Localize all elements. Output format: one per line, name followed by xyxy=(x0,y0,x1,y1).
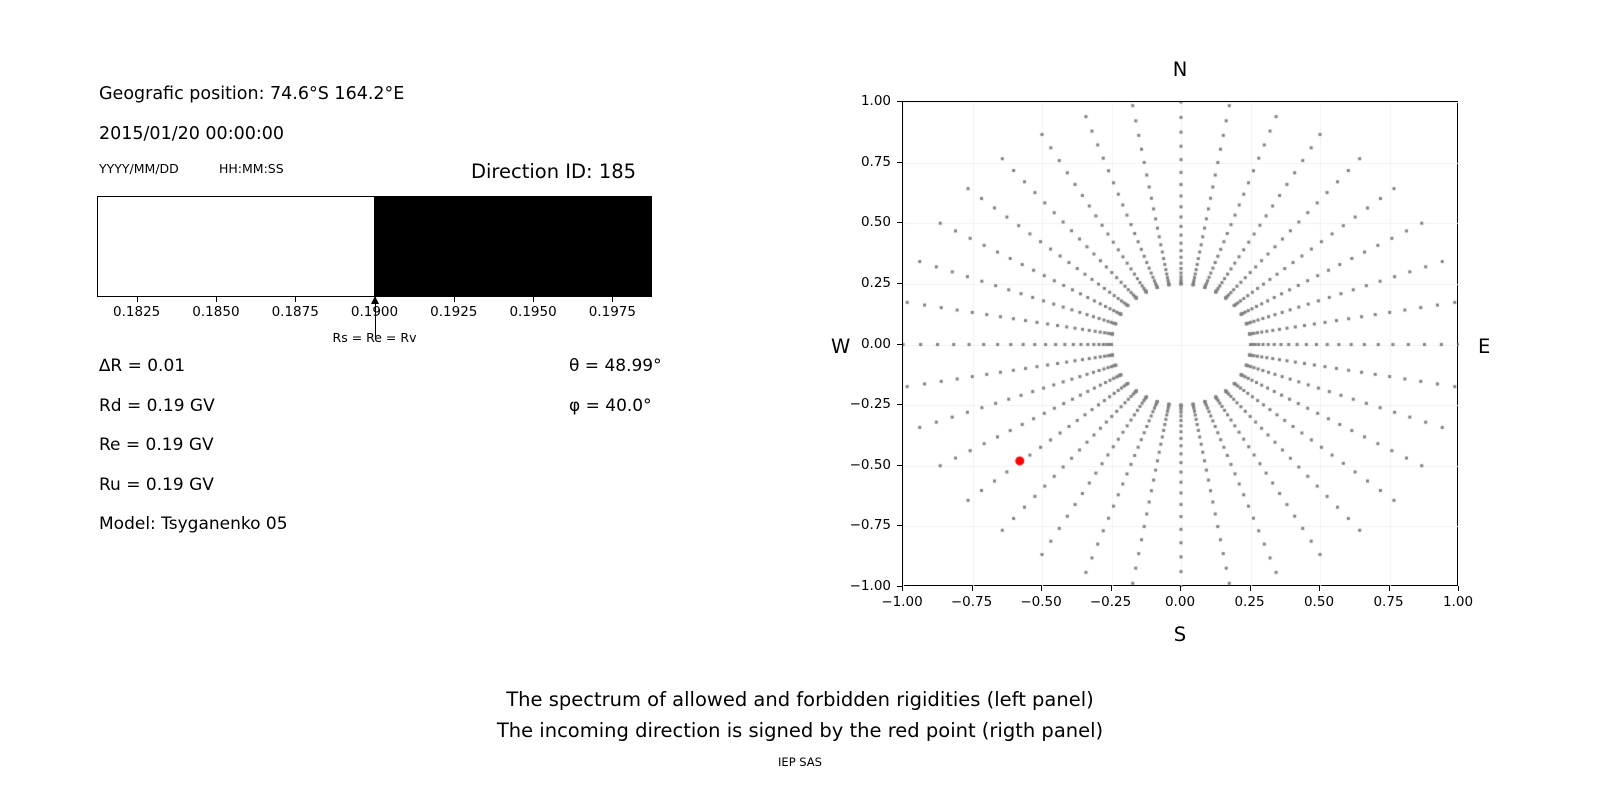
figure-root: Geografic position: 74.6°S 164.2°E 2015/… xyxy=(0,0,1600,800)
sky-x-tick-label: −0.75 xyxy=(951,594,992,610)
sky-y-tickmark xyxy=(897,283,902,284)
sky-y-tickmark xyxy=(897,465,902,466)
sky-x-tick-label: −0.50 xyxy=(1020,594,1061,610)
parameter-row: θ = 48.99° xyxy=(569,356,662,376)
parameter-row: Re = 0.19 GV xyxy=(99,435,214,455)
spectrum-tick-label: 0.1850 xyxy=(192,304,239,320)
sky-x-tickmark xyxy=(1041,586,1042,591)
spectrum-tick-label: 0.1975 xyxy=(589,304,636,320)
sky-y-tickmark xyxy=(897,222,902,223)
sky-x-tickmark xyxy=(902,586,903,591)
spectrum-tick-label: 0.1950 xyxy=(509,304,556,320)
time-format-hint: HH:MM:SS xyxy=(219,161,284,176)
sky-x-tick-label: 0.00 xyxy=(1165,594,1195,610)
sky-y-tickmark xyxy=(897,101,902,102)
parameter-row: Ru = 0.19 GV xyxy=(99,475,214,495)
caption-line-1: The spectrum of allowed and forbidden ri… xyxy=(0,684,1600,715)
compass-label-east: E xyxy=(1478,335,1490,358)
spectrum-tickmark xyxy=(454,297,455,302)
date-format-hint: YYYY/MM/DD xyxy=(99,161,179,176)
geographic-position-label: Geografic position: 74.6°S 164.2°E xyxy=(99,84,404,104)
footer-credit: IEP SAS xyxy=(0,755,1600,769)
rigidity-spectrum-bar xyxy=(97,196,652,297)
sky-y-tick-label: −0.50 xyxy=(831,457,891,473)
spectrum-forbidden-region xyxy=(374,197,652,296)
spectrum-allowed-region xyxy=(98,197,376,296)
sky-y-tick-label: 0.50 xyxy=(831,214,891,230)
spectrum-tickmark xyxy=(533,297,534,302)
sky-x-tickmark xyxy=(1319,586,1320,591)
sky-scatter-canvas xyxy=(903,102,1459,587)
spectrum-tick-label: 0.1875 xyxy=(272,304,319,320)
sky-y-tick-label: −1.00 xyxy=(831,578,891,594)
spectrum-tickmark xyxy=(137,297,138,302)
spectrum-tick-label: 0.1825 xyxy=(113,304,160,320)
sky-x-tick-label: 1.00 xyxy=(1443,594,1473,610)
sky-direction-plot xyxy=(902,101,1458,586)
direction-id-label: Direction ID: 185 xyxy=(471,160,636,183)
caption-line-2: The incoming direction is signed by the … xyxy=(0,715,1600,746)
sky-y-tick-label: 0.00 xyxy=(831,336,891,352)
sky-x-tickmark xyxy=(1111,586,1112,591)
left-panel: Geografic position: 74.6°S 164.2°E 2015/… xyxy=(0,0,800,680)
sky-x-tickmark xyxy=(1180,586,1181,591)
sky-y-tickmark xyxy=(897,525,902,526)
right-panel: N S W E −1.00−0.75−0.50−0.250.000.250.50… xyxy=(800,0,1600,680)
parameter-row: ∆R = 0.01 xyxy=(99,356,185,376)
sky-y-tickmark xyxy=(897,344,902,345)
sky-y-tick-label: −0.75 xyxy=(831,517,891,533)
sky-x-tick-label: −1.00 xyxy=(881,594,922,610)
sky-x-tickmark xyxy=(1458,586,1459,591)
spectrum-tickmark xyxy=(295,297,296,302)
datetime-label: 2015/01/20 00:00:00 xyxy=(99,124,284,144)
parameter-row: Rd = 0.19 GV xyxy=(99,396,215,416)
spectrum-tickmark xyxy=(612,297,613,302)
compass-label-north: N xyxy=(1173,58,1188,81)
sky-x-tick-label: 0.25 xyxy=(1234,594,1264,610)
compass-label-south: S xyxy=(1174,623,1186,646)
figure-caption: The spectrum of allowed and forbidden ri… xyxy=(0,684,1600,746)
sky-y-tickmark xyxy=(897,162,902,163)
sky-x-tick-label: 0.50 xyxy=(1304,594,1334,610)
sky-x-tick-label: 0.75 xyxy=(1373,594,1403,610)
parameter-row: φ = 40.0° xyxy=(569,396,652,416)
sky-y-tickmark xyxy=(897,404,902,405)
sky-y-tick-label: −0.25 xyxy=(831,396,891,412)
sky-x-tickmark xyxy=(972,586,973,591)
sky-x-tick-label: −0.25 xyxy=(1090,594,1131,610)
sky-x-tickmark xyxy=(1389,586,1390,591)
sky-y-tick-label: 0.25 xyxy=(831,275,891,291)
parameter-row: Model: Tsyganenko 05 xyxy=(99,514,288,534)
sky-y-tick-label: 1.00 xyxy=(831,93,891,109)
sky-x-tickmark xyxy=(1250,586,1251,591)
sky-y-tick-label: 0.75 xyxy=(831,154,891,170)
spectrum-tickmark xyxy=(216,297,217,302)
rs-marker-label: Rs = Re = Rv xyxy=(333,330,417,345)
spectrum-tick-label: 0.1925 xyxy=(430,304,477,320)
